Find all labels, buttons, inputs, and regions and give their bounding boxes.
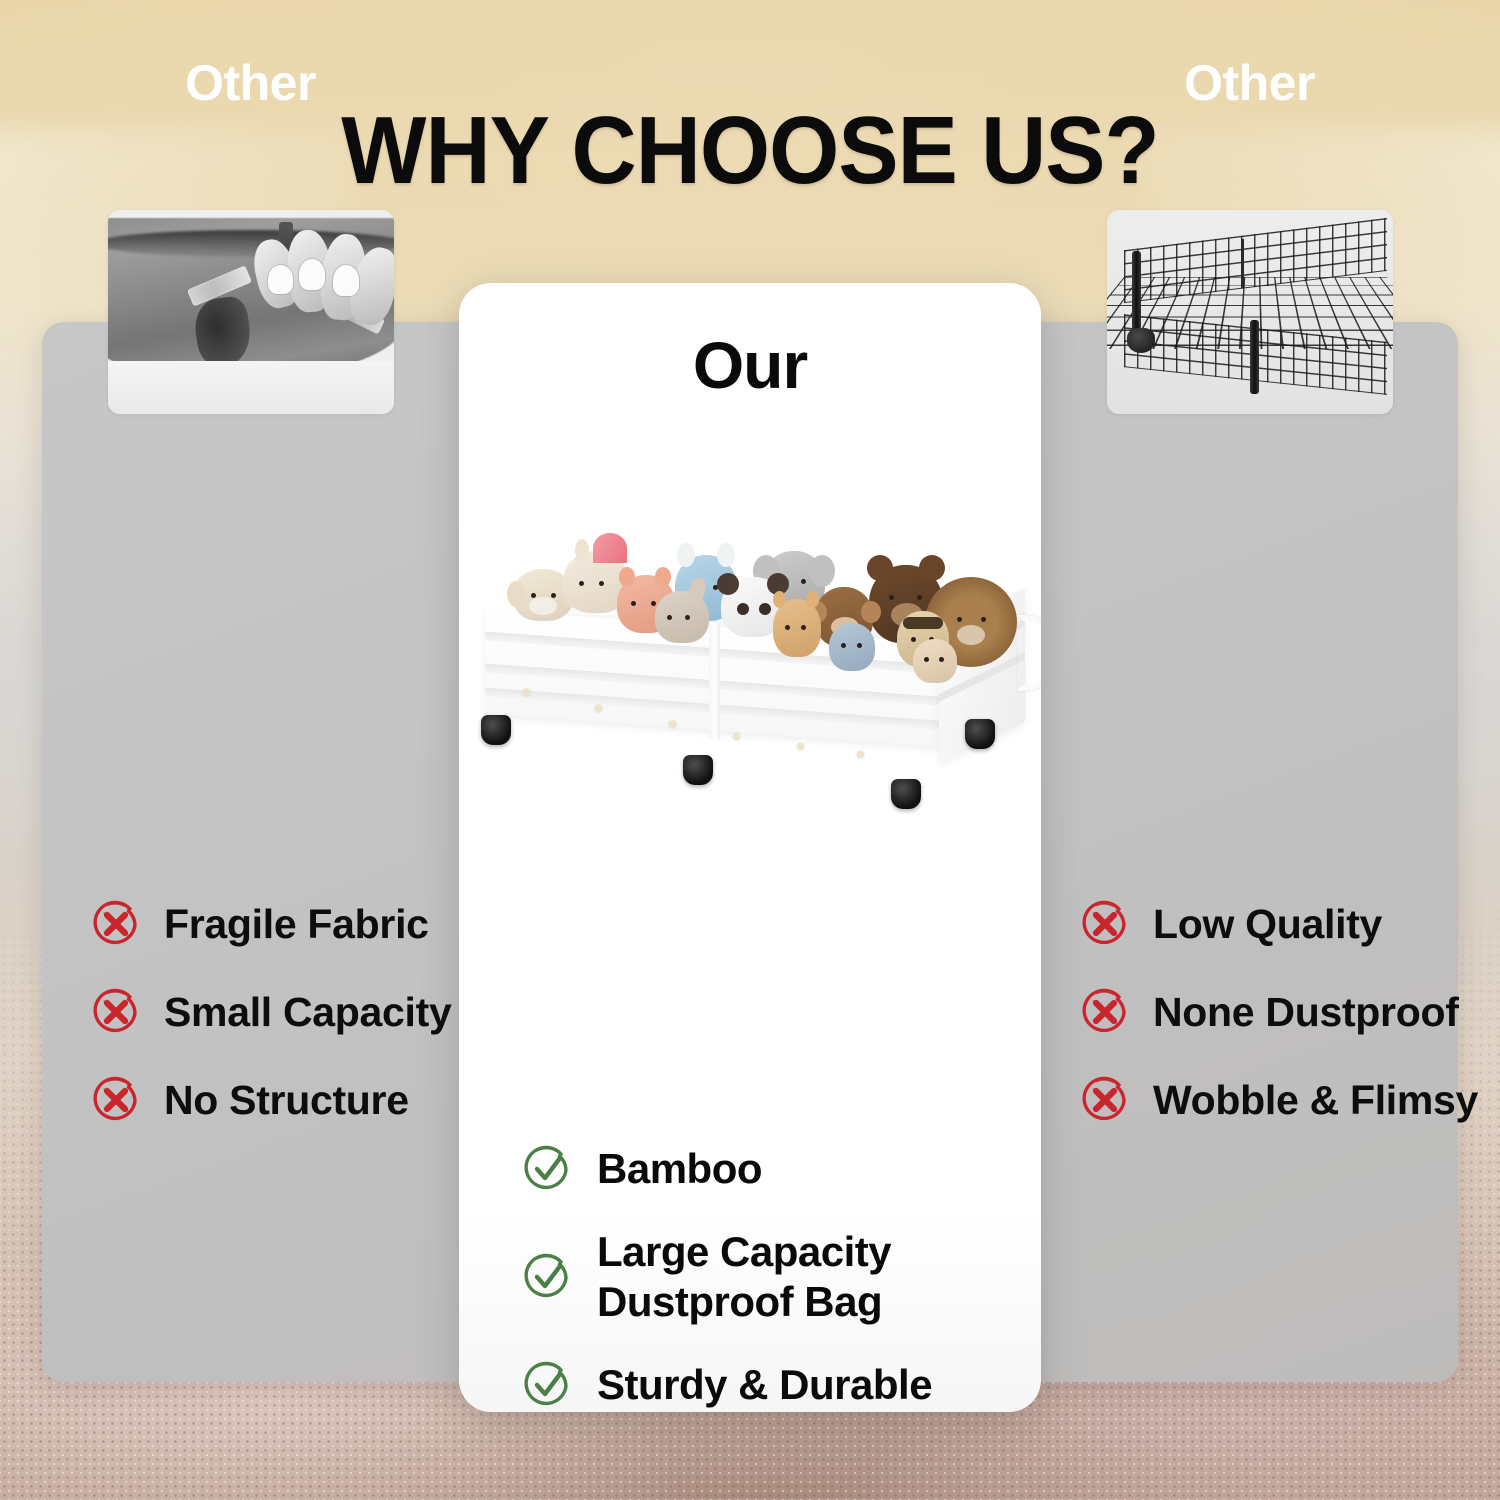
our-benefit-list: Bamboo Large Capacity Dustproof Bag xyxy=(459,1125,1041,1412)
list-item-label-line2: Dustproof Bag xyxy=(597,1278,882,1325)
plush-toy-giraffe xyxy=(773,599,821,657)
cart-screw xyxy=(733,733,740,740)
list-item-label: None Dustproof xyxy=(1153,989,1459,1036)
list-item: Fragile Fabric xyxy=(42,880,459,968)
other-column-left: Other xyxy=(42,0,459,1500)
center-panel-heading: Our xyxy=(459,327,1041,403)
list-item: Sturdy & Durable xyxy=(459,1341,1041,1412)
storage-cart-illustration xyxy=(477,543,1025,783)
list-item-label: Low Quality xyxy=(1153,901,1382,948)
fingernail xyxy=(299,259,325,290)
plush-toy-rabbit-cream xyxy=(913,639,957,683)
mesh-post xyxy=(1250,320,1259,393)
right-panel-thumbnail xyxy=(1107,210,1393,414)
list-item-label: No Structure xyxy=(164,1077,409,1124)
broken-zipper-photo xyxy=(108,210,394,414)
cart-caster xyxy=(683,755,713,785)
right-drawback-list: Low Quality None Dustproof xyxy=(1041,880,1458,1144)
cart-handle xyxy=(1017,615,1041,691)
mesh-caster xyxy=(1127,328,1156,352)
left-panel-heading: Other xyxy=(42,54,459,112)
left-panel-thumbnail xyxy=(108,210,394,414)
cross-icon xyxy=(1079,1074,1131,1126)
wire-basket-photo xyxy=(1107,210,1393,414)
plush-toy-elephant-blue xyxy=(829,623,875,671)
right-panel-heading: Other xyxy=(1041,54,1458,112)
fingernail xyxy=(333,265,359,296)
mesh-post xyxy=(1132,251,1141,341)
cart-caster xyxy=(965,719,995,749)
list-item: None Dustproof xyxy=(1041,968,1458,1056)
list-item-label: Fragile Fabric xyxy=(164,901,429,948)
list-item-label: Small Capacity xyxy=(164,989,452,1036)
list-item-label: Wobble & Flimsy xyxy=(1153,1077,1478,1124)
cart-screw xyxy=(523,689,530,696)
cart-caster xyxy=(891,779,921,809)
cart-screw xyxy=(797,743,804,750)
cross-icon xyxy=(1079,898,1131,950)
our-product-card: Our xyxy=(459,283,1041,1412)
cart-screw xyxy=(857,751,864,758)
list-item: Low Quality xyxy=(1041,880,1458,968)
cart-screw xyxy=(595,705,602,712)
list-item: No Structure xyxy=(42,1056,459,1144)
plush-toy-bunny xyxy=(655,591,709,643)
check-icon xyxy=(521,1143,573,1195)
list-item: Wobble & Flimsy xyxy=(1041,1056,1458,1144)
cross-icon xyxy=(90,1074,142,1126)
other-column-right: Other Low Quality xyxy=(1041,0,1458,1500)
list-item: Small Capacity xyxy=(42,968,459,1056)
cross-icon xyxy=(90,986,142,1038)
list-item: Large Capacity Dustproof Bag xyxy=(459,1213,1041,1341)
cross-icon xyxy=(90,898,142,950)
list-item-label: Sturdy & Durable xyxy=(597,1360,932,1410)
product-image xyxy=(459,473,1041,893)
check-icon xyxy=(521,1251,573,1303)
list-item-label: Large Capacity Dustproof Bag xyxy=(597,1227,891,1326)
check-icon xyxy=(521,1359,573,1411)
cross-icon xyxy=(1079,986,1131,1038)
list-item-label: Bamboo xyxy=(597,1144,762,1194)
list-item: Bamboo xyxy=(459,1125,1041,1213)
fingernail xyxy=(268,265,294,294)
cart-center-divider xyxy=(709,623,720,740)
cart-caster xyxy=(481,715,511,745)
left-drawback-list: Fragile Fabric Small Capacity xyxy=(42,880,459,1144)
list-item-label-line1: Large Capacity xyxy=(597,1228,891,1275)
cart-screw xyxy=(669,721,676,728)
photo-floor xyxy=(108,361,394,414)
cart-slat xyxy=(485,687,963,731)
